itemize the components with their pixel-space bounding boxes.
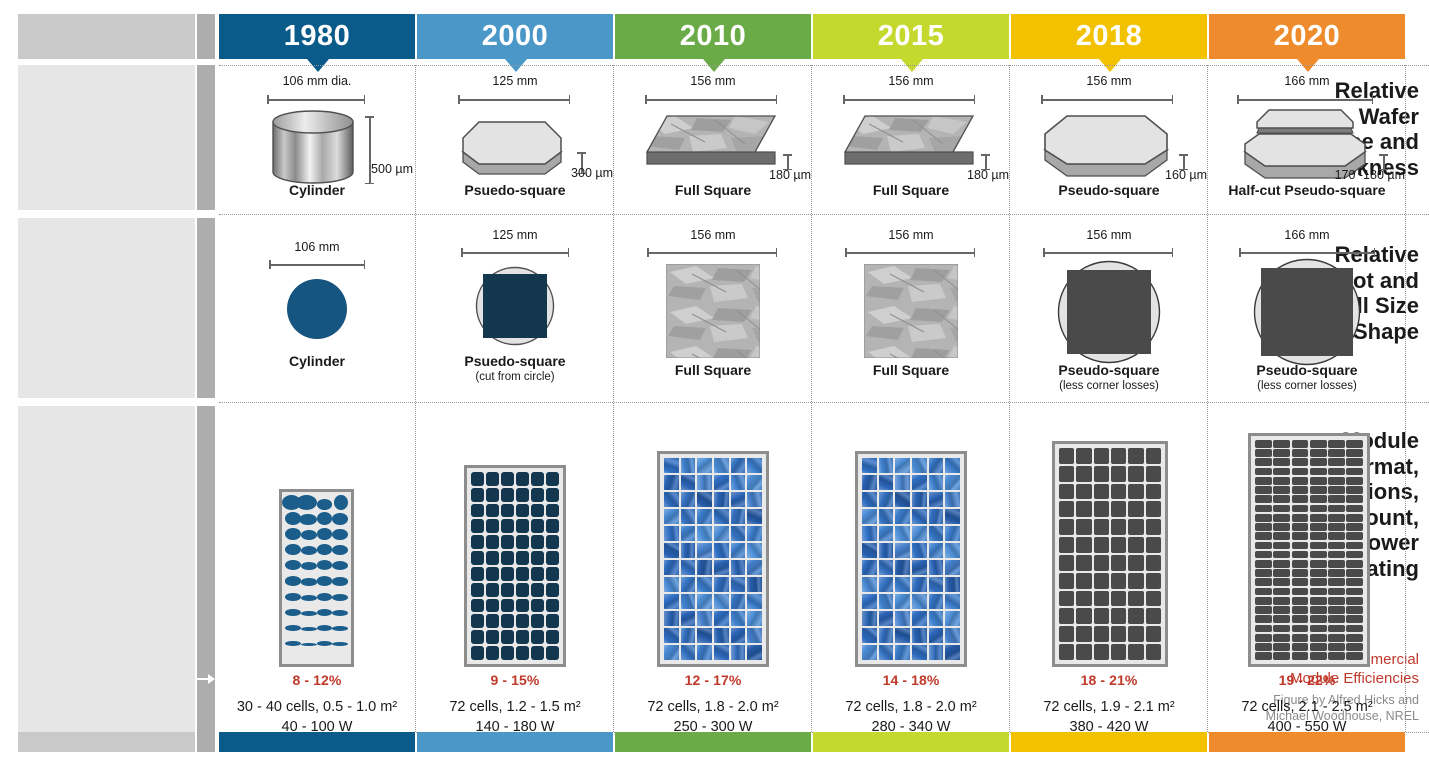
ingot-shape-sub: (less corner losses)	[1011, 380, 1207, 392]
module-cell	[1076, 466, 1091, 482]
wafer-width-caliper	[267, 95, 365, 104]
module-cell	[1128, 501, 1143, 517]
module-cell	[516, 646, 529, 660]
module-cell	[1273, 634, 1290, 642]
module-cell	[862, 475, 877, 490]
module-cell	[747, 560, 762, 575]
module-cell	[895, 475, 910, 490]
ingot-cell-2015: 156 mm Full Square	[813, 240, 1009, 242]
caliper-tick-right	[1374, 248, 1376, 257]
module-cell	[1292, 634, 1309, 642]
module-cell	[1111, 626, 1126, 642]
ingot-width-caliper	[461, 248, 569, 257]
module-cell	[929, 475, 944, 490]
module-cell	[1255, 532, 1272, 540]
module-cell	[714, 594, 729, 609]
ingot-width-caliper	[647, 248, 777, 257]
module-cell	[1346, 606, 1363, 614]
wafer-shape-name: Cylinder	[219, 182, 415, 198]
module-cell-grid	[860, 456, 962, 662]
module-cell	[681, 594, 696, 609]
module-cell	[681, 458, 696, 473]
ingot-width-caliper	[1043, 248, 1173, 257]
module-cell	[1273, 597, 1290, 605]
module-cell	[501, 599, 514, 613]
ingot-width-label: 156 mm	[1011, 228, 1207, 242]
module-cell	[516, 535, 529, 549]
row-divider	[219, 402, 1429, 403]
module-cell	[731, 475, 746, 490]
caliper-tick-left	[647, 248, 649, 257]
module-cell	[1094, 501, 1109, 517]
module-cell	[1255, 449, 1272, 457]
year-header-2018[interactable]: 2018	[1011, 14, 1207, 59]
module-cell	[681, 560, 696, 575]
module-cell	[1273, 578, 1290, 586]
module-cell	[895, 577, 910, 592]
module-cell	[1128, 608, 1143, 624]
module-cell	[1346, 560, 1363, 568]
module-cell	[664, 611, 679, 626]
module-cell	[1310, 477, 1327, 485]
module-cell	[1255, 625, 1272, 633]
module-cell	[681, 628, 696, 643]
module-cell	[1111, 466, 1126, 482]
wafer-cell-2015: 156 mm 180 µm Full Square	[813, 70, 1009, 88]
module-cell	[531, 472, 544, 486]
module-cell	[664, 526, 679, 541]
module-cell	[1273, 606, 1290, 614]
module-cell	[1273, 569, 1290, 577]
module-cell	[1328, 523, 1345, 531]
module-cell	[501, 630, 514, 644]
module-cell	[697, 492, 712, 507]
module-panel-1980[interactable]	[279, 489, 354, 667]
caliper-tick-top	[981, 154, 990, 156]
module-cell	[697, 509, 712, 524]
module-cell	[471, 646, 484, 660]
wafer-cell-1980: 106 mm dia.	[219, 70, 415, 88]
module-cell	[697, 628, 712, 643]
module-cell	[1146, 573, 1161, 589]
year-header-1980[interactable]: 1980	[219, 14, 415, 59]
column-divider	[613, 65, 614, 732]
ingot-shape-circle	[286, 278, 348, 340]
module-cell	[546, 535, 559, 549]
module-cell	[1255, 634, 1272, 642]
module-cell	[1273, 486, 1290, 494]
module-cell	[1059, 591, 1074, 607]
module-cell	[317, 512, 333, 525]
module-cell	[1255, 458, 1272, 466]
module-cell	[471, 567, 484, 581]
year-header-2000[interactable]: 2000	[417, 14, 613, 59]
module-cell	[1310, 468, 1327, 476]
module-cell	[1111, 448, 1126, 464]
module-cell	[1346, 449, 1363, 457]
module-cell	[895, 492, 910, 507]
module-cell	[664, 645, 679, 660]
module-cell	[879, 611, 894, 626]
module-cell	[879, 543, 894, 558]
module-cell	[317, 625, 333, 631]
footer-bar-2020	[1209, 732, 1405, 752]
module-cell	[317, 609, 333, 616]
module-cell	[879, 577, 894, 592]
module-cell	[1128, 484, 1143, 500]
module-cell	[1111, 484, 1126, 500]
module-cell	[1076, 608, 1091, 624]
module-cell	[945, 628, 960, 643]
module-cell	[285, 576, 301, 585]
wafer-thickness-label: 170 -180 µm	[1299, 168, 1405, 182]
module-panel-2000[interactable]	[464, 465, 566, 667]
wafer-width-label: 156 mm	[615, 74, 811, 88]
module-cell	[714, 611, 729, 626]
wafer-cell-2010: 156 mm	[615, 70, 811, 88]
module-cell	[929, 611, 944, 626]
module-cell	[895, 560, 910, 575]
module-cell	[1292, 606, 1309, 614]
module-cell	[731, 526, 746, 541]
module-cell	[879, 560, 894, 575]
module-cells: 30 - 40 cells, 0.5 - 1.0 m²	[219, 698, 415, 718]
module-cell	[501, 504, 514, 518]
module-cell	[681, 645, 696, 660]
module-cell	[1255, 551, 1272, 559]
module-cell	[1111, 644, 1126, 660]
caliper-tick-right	[1172, 95, 1174, 104]
module-cell	[516, 614, 529, 628]
module-cell	[1128, 644, 1143, 660]
row-label-cell-module	[18, 406, 195, 732]
module-cell	[1310, 615, 1327, 623]
module-panel-2010[interactable]	[657, 451, 769, 667]
module-cell	[1273, 615, 1290, 623]
caliper-tick-right	[364, 260, 366, 269]
module-cell	[1310, 569, 1327, 577]
module-cell	[1310, 578, 1327, 586]
caliper-tick-right	[568, 248, 570, 257]
module-cell	[862, 509, 877, 524]
module-cell	[1111, 608, 1126, 624]
module-cell	[301, 611, 317, 616]
module-cell	[1328, 597, 1345, 605]
module-cell	[862, 560, 877, 575]
module-cell	[1094, 626, 1109, 642]
ingot-cell-2018: 156 mm Pseudo-square (less corner losses…	[1011, 240, 1207, 242]
caliper-tick-left	[269, 260, 271, 269]
module-cell	[1076, 484, 1091, 500]
wafer-thickness-label: 500 µm	[327, 162, 413, 176]
module-cell	[1059, 519, 1074, 535]
footer-bar-2018	[1011, 732, 1207, 752]
ingot-cell-2000: 125 mm Psuedo-square (cut from circle)	[417, 240, 613, 242]
module-panel-2020[interactable]	[1248, 433, 1370, 667]
module-cell	[1255, 468, 1272, 476]
module-cell	[912, 628, 927, 643]
module-cell	[332, 594, 348, 601]
module-cell	[1111, 537, 1126, 553]
module-cell	[664, 560, 679, 575]
module-cell	[471, 504, 484, 518]
module-cell	[1273, 495, 1290, 503]
module-cell	[486, 504, 499, 518]
module-cell	[1310, 606, 1327, 614]
module-cell	[471, 599, 484, 613]
module-cell	[1059, 573, 1074, 589]
module-cell	[285, 560, 301, 570]
module-cell	[1146, 591, 1161, 607]
module-text-1980: 8 - 12% 30 - 40 cells, 0.5 - 1.0 m² 40 -…	[219, 672, 415, 737]
module-cell	[879, 509, 894, 524]
module-cell	[501, 535, 514, 549]
caliper-tick-left	[1237, 95, 1239, 104]
module-cell	[1273, 449, 1290, 457]
module-cell	[1059, 555, 1074, 571]
year-label: 2000	[482, 20, 549, 53]
module-cell	[945, 526, 960, 541]
module-cell	[862, 526, 877, 541]
caliper-tick-left	[843, 95, 845, 104]
ingot-width-label: 125 mm	[417, 228, 613, 242]
module-cell	[929, 560, 944, 575]
module-cell	[1255, 440, 1272, 448]
module-cell	[301, 578, 317, 585]
module-cell	[1310, 486, 1327, 494]
module-cell	[1111, 501, 1126, 517]
module-cell	[945, 611, 960, 626]
caliper-tick-top	[1379, 154, 1388, 156]
module-cell	[1255, 643, 1272, 651]
module-cell	[1273, 560, 1290, 568]
module-efficiency: 14 - 18%	[813, 672, 1009, 688]
module-cell	[301, 546, 317, 555]
module-cell	[1346, 514, 1363, 522]
module-cell	[1310, 588, 1327, 596]
module-cell	[1292, 440, 1309, 448]
year-header-2015[interactable]: 2015	[813, 14, 1009, 59]
wafer-shape-name: Psuedo-square	[417, 182, 613, 198]
caliper-bar	[647, 252, 777, 254]
caliper-tick-left	[1041, 95, 1043, 104]
module-cell	[471, 614, 484, 628]
module-cell	[1094, 644, 1109, 660]
module-cell	[471, 488, 484, 502]
caliper-tick-top	[1179, 154, 1188, 156]
module-efficiency: 9 - 15%	[417, 672, 613, 688]
module-cell	[697, 645, 712, 660]
ingot-width-caliper	[269, 260, 365, 269]
wafer-thickness-label: 300 µm	[527, 166, 613, 180]
module-cell	[879, 458, 894, 473]
module-cell	[747, 577, 762, 592]
caliper-tick-right	[569, 95, 571, 104]
wafer-width-label: 156 mm	[813, 74, 1009, 88]
module-cell	[1059, 537, 1074, 553]
module-cell	[1328, 477, 1345, 485]
module-cell-grid	[662, 456, 764, 662]
caliper-bar	[845, 252, 975, 254]
wafer-width-label: 156 mm	[1011, 74, 1207, 88]
module-cell	[1273, 542, 1290, 550]
module-cell	[714, 458, 729, 473]
year-label: 2018	[1076, 20, 1143, 53]
ingot-shape-sub: (less corner losses)	[1209, 380, 1405, 392]
module-cell	[1094, 448, 1109, 464]
module-cell	[546, 583, 559, 597]
module-cell-grid	[1057, 446, 1163, 662]
module-cell	[1292, 560, 1309, 568]
ingot-width-label: 156 mm	[615, 228, 811, 242]
module-cell	[531, 488, 544, 502]
module-cell	[697, 577, 712, 592]
module-cell	[1346, 578, 1363, 586]
row-spacer-ingot	[197, 218, 215, 398]
module-cell	[332, 610, 348, 616]
module-cell	[895, 526, 910, 541]
module-cell	[1346, 468, 1363, 476]
row-divider	[219, 214, 1429, 215]
module-cell	[486, 472, 499, 486]
module-cell	[714, 628, 729, 643]
module-cells: 72 cells, 2.1 - 2.5 m²	[1209, 698, 1405, 718]
module-cell	[1310, 532, 1327, 540]
module-cell	[1094, 519, 1109, 535]
module-cell	[1346, 505, 1363, 513]
column-divider	[1009, 65, 1010, 732]
module-panel-2018[interactable]	[1052, 441, 1168, 667]
module-cell	[1328, 542, 1345, 550]
module-cell	[1292, 569, 1309, 577]
module-cell	[285, 528, 301, 540]
caliper-bar	[1041, 99, 1173, 101]
module-cell	[1255, 615, 1272, 623]
module-cell	[332, 513, 348, 525]
module-cell	[1059, 484, 1074, 500]
module-cell	[1076, 626, 1091, 642]
module-cell	[1310, 652, 1327, 660]
module-cell	[747, 509, 762, 524]
module-cell	[1310, 495, 1327, 503]
module-cell	[1346, 551, 1363, 559]
module-cell	[486, 614, 499, 628]
module-cell	[531, 646, 544, 660]
module-cell	[1128, 591, 1143, 607]
module-cell	[1273, 523, 1290, 531]
module-cell	[1094, 555, 1109, 571]
module-cell	[317, 593, 333, 601]
module-cell	[664, 577, 679, 592]
year-header-2020[interactable]: 2020	[1209, 14, 1405, 59]
caliper-bar	[843, 99, 975, 101]
module-cell	[1328, 643, 1345, 651]
module-cell	[1310, 625, 1327, 633]
module-cell	[862, 645, 877, 660]
module-cell	[1273, 588, 1290, 596]
module-cell	[1292, 588, 1309, 596]
module-efficiency: 12 - 17%	[615, 672, 811, 688]
module-cell	[1094, 608, 1109, 624]
module-cell	[1292, 542, 1309, 550]
module-cell	[1273, 514, 1290, 522]
module-cell	[1076, 555, 1091, 571]
module-cell	[697, 560, 712, 575]
module-cell	[1076, 537, 1091, 553]
caliper-tick-left	[845, 248, 847, 257]
module-cell	[1094, 537, 1109, 553]
module-cell	[929, 492, 944, 507]
module-cell	[516, 599, 529, 613]
year-label: 2020	[1274, 20, 1341, 53]
module-cell	[546, 614, 559, 628]
module-cell	[1292, 597, 1309, 605]
module-cell	[1059, 626, 1074, 642]
ingot-cell-1980: 106 mm Cylinder	[219, 240, 415, 254]
module-cell	[1328, 440, 1345, 448]
module-cell	[945, 458, 960, 473]
module-cell	[516, 583, 529, 597]
wafer-cell-2018: 156 mm 160 µm Pseudo-square	[1011, 70, 1207, 88]
module-cell	[929, 577, 944, 592]
module-cell	[714, 577, 729, 592]
header-blank-cell	[18, 14, 195, 59]
module-cell	[1059, 608, 1074, 624]
year-header-2010[interactable]: 2010	[615, 14, 811, 59]
module-cell	[1346, 652, 1363, 660]
module-cell	[1310, 560, 1327, 568]
module-cell	[1146, 501, 1161, 517]
module-cell	[317, 641, 333, 646]
module-cell	[486, 583, 499, 597]
module-cell	[1328, 532, 1345, 540]
module-cell	[714, 509, 729, 524]
module-cell	[862, 458, 877, 473]
module-cell	[285, 544, 301, 555]
module-text-2020: 19 - 22% 72 cells, 2.1 - 2.5 m² 400 - 55…	[1209, 672, 1405, 737]
ingot-shape-pseudo-square	[1057, 260, 1161, 364]
caliper-tick-left	[461, 248, 463, 257]
module-cell	[1346, 486, 1363, 494]
module-cell	[1076, 591, 1091, 607]
module-cell	[731, 645, 746, 660]
caliper-bar	[1043, 252, 1173, 254]
module-cell	[731, 560, 746, 575]
module-cell	[1292, 615, 1309, 623]
wafer-width-caliper	[1041, 95, 1173, 104]
module-cell-grid	[1253, 438, 1365, 662]
module-cell	[697, 458, 712, 473]
module-cell	[1146, 537, 1161, 553]
module-cell	[1094, 573, 1109, 589]
module-cell	[301, 627, 317, 631]
module-cell	[501, 567, 514, 581]
module-cell	[1146, 644, 1161, 660]
module-cell	[879, 475, 894, 490]
module-panel-2015[interactable]	[855, 451, 967, 667]
module-cell	[516, 504, 529, 518]
caliper-bar	[458, 99, 570, 101]
module-cell	[531, 567, 544, 581]
module-cell	[1059, 448, 1074, 464]
module-cell	[912, 509, 927, 524]
module-cell	[486, 630, 499, 644]
caliper-bar	[461, 252, 569, 254]
module-cell	[945, 645, 960, 660]
module-cell	[912, 543, 927, 558]
module-cell	[1255, 588, 1272, 596]
module-cell	[1328, 569, 1345, 577]
